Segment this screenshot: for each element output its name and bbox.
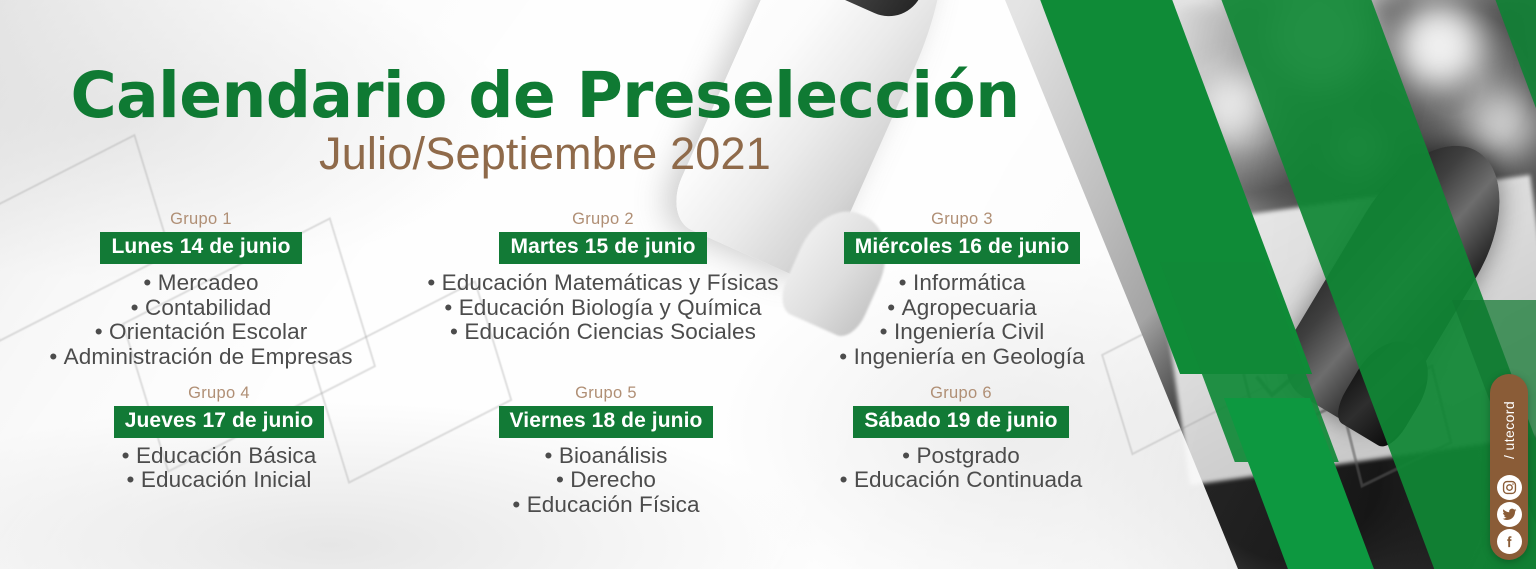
preselection-calendar-banner: Calendario de Preselección Julio/Septiem… xyxy=(0,0,1536,569)
list-item: Postgrado xyxy=(798,444,1124,469)
group-date-badge: Martes 15 de junio xyxy=(499,232,706,264)
instagram-icon[interactable] xyxy=(1497,475,1522,500)
group-card-1: Grupo 1 Lunes 14 de junio Mercadeo Conta… xyxy=(0,210,420,370)
list-item: Orientación Escolar xyxy=(0,320,414,345)
group-program-list: Mercadeo Contabilidad Orientación Escola… xyxy=(0,271,414,370)
group-label: Grupo 2 xyxy=(412,210,794,229)
list-item: Educación Biología y Química xyxy=(412,296,794,321)
social-handle-text: / utecord xyxy=(1501,401,1517,459)
twitter-icon[interactable] xyxy=(1497,502,1522,527)
group-date-badge: Viernes 18 de junio xyxy=(499,406,714,438)
social-media-pill[interactable]: / utecord xyxy=(1490,374,1528,560)
group-card-4: Grupo 4 Jueves 17 de junio Educación Bás… xyxy=(18,384,420,518)
group-program-list: Bioanálisis Derecho Educación Física xyxy=(418,444,794,518)
group-program-list: Educación Básica Educación Inicial xyxy=(24,444,414,494)
list-item: Educación Continuada xyxy=(798,468,1124,493)
group-date-badge: Jueves 17 de junio xyxy=(114,406,325,438)
group-date-badge: Lunes 14 de junio xyxy=(100,232,301,264)
list-item: Educación Básica xyxy=(24,444,414,469)
group-label: Grupo 3 xyxy=(800,210,1124,229)
group-label: Grupo 5 xyxy=(418,384,794,403)
group-program-list: Informática Agropecuaria Ingeniería Civi… xyxy=(800,271,1124,370)
group-card-3: Grupo 3 Miércoles 16 de junio Informátic… xyxy=(794,210,1130,370)
list-item: Educación Inicial xyxy=(24,468,414,493)
list-item: Educación Ciencias Sociales xyxy=(412,320,794,345)
group-program-list: Postgrado Educación Continuada xyxy=(798,444,1124,494)
group-program-list: Educación Matemáticas y Físicas Educació… xyxy=(412,271,794,345)
group-label: Grupo 4 xyxy=(24,384,414,403)
list-item: Informática xyxy=(800,271,1124,296)
page-subtitle: Julio/Septiembre 2021 xyxy=(0,130,1090,179)
list-item: Derecho xyxy=(418,468,794,493)
social-handle: / utecord xyxy=(1490,384,1528,476)
page-title: Calendario de Preselección xyxy=(0,64,1090,128)
list-item: Mercadeo xyxy=(0,271,414,296)
group-card-6: Grupo 6 Sábado 19 de junio Postgrado Edu… xyxy=(792,384,1130,518)
group-label: Grupo 1 xyxy=(0,210,414,229)
group-label: Grupo 6 xyxy=(798,384,1124,403)
list-item: Bioanálisis xyxy=(418,444,794,469)
banner-heading-block: Calendario de Preselección Julio/Septiem… xyxy=(0,64,1090,179)
group-card-5: Grupo 5 Viernes 18 de junio Bioanálisis … xyxy=(412,384,800,518)
list-item: Ingeniería Civil xyxy=(800,320,1124,345)
groups-grid: Grupo 1 Lunes 14 de junio Mercadeo Conta… xyxy=(0,210,1170,518)
list-item: Contabilidad xyxy=(0,296,414,321)
list-item: Educación Física xyxy=(418,493,794,518)
list-item: Educación Matemáticas y Físicas xyxy=(412,271,794,296)
social-icon-list xyxy=(1490,475,1528,554)
group-date-badge: Miércoles 16 de junio xyxy=(844,232,1081,264)
group-card-2: Grupo 2 Martes 15 de junio Educación Mat… xyxy=(406,210,800,370)
group-date-badge: Sábado 19 de junio xyxy=(853,406,1068,438)
facebook-icon[interactable] xyxy=(1497,529,1522,554)
list-item: Administración de Empresas xyxy=(0,345,414,370)
list-item: Agropecuaria xyxy=(800,296,1124,321)
list-item: Ingeniería en Geología xyxy=(800,345,1124,370)
